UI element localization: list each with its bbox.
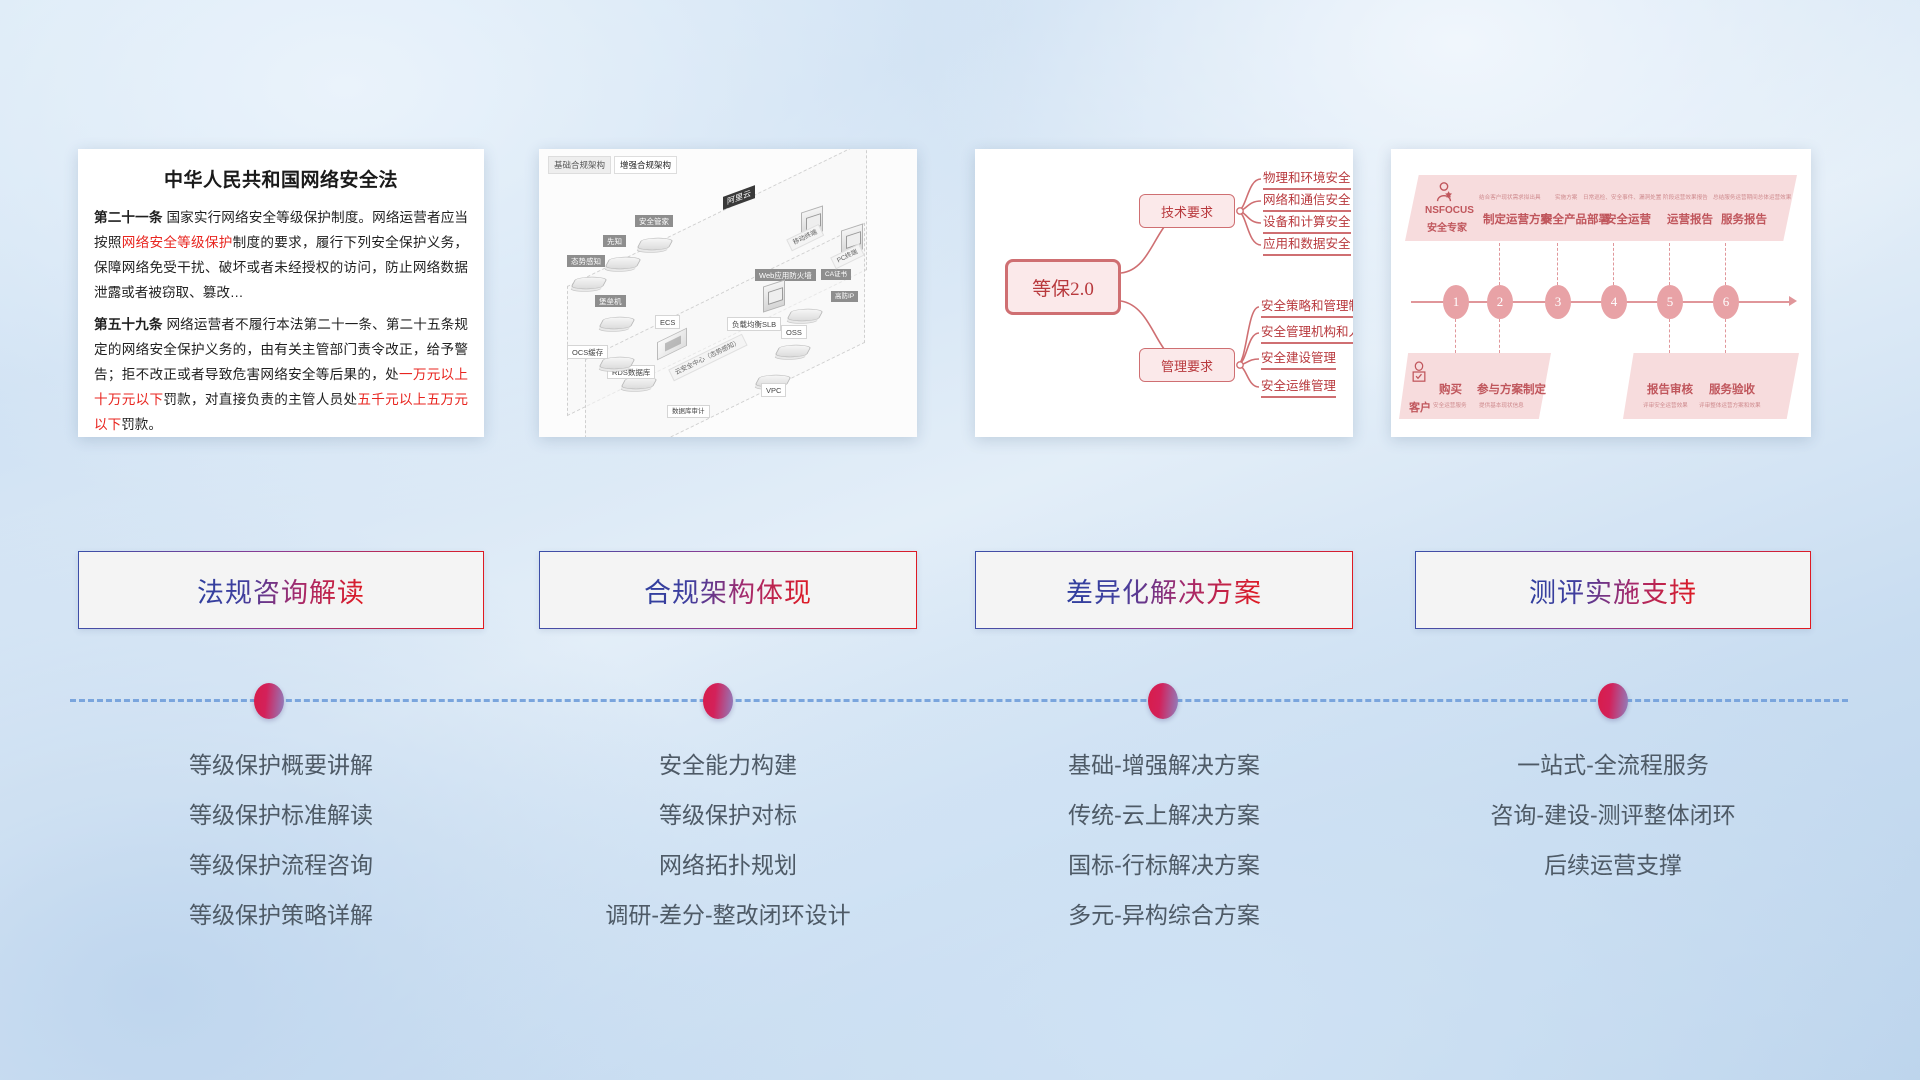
- node-tag-security-steward: 安全管家: [635, 215, 673, 227]
- expert-role-line2: 安全专家: [1427, 219, 1467, 234]
- bottom-step-2-label: 参与方案制定: [1477, 381, 1546, 397]
- timeline-node-6: 6: [1713, 285, 1739, 319]
- section-header-2[interactable]: 合规架构体现: [539, 551, 917, 629]
- top-step-6-sub: 总结服务运营期间总体运营效果: [1713, 193, 1791, 201]
- node-tag-ocs: OCS缓存: [567, 345, 608, 359]
- mindmap-core-node: 等保2.0: [1005, 259, 1121, 315]
- node-tag-anti-ddos-ip: 高防IP: [831, 291, 858, 302]
- rail-dot-1: [254, 683, 284, 719]
- section-header-3-label: 差异化解决方案: [1066, 571, 1262, 610]
- mindmap-leaf-construction-mgmt: 安全建设管理: [1261, 347, 1336, 370]
- customer-role-label: 客户: [1409, 399, 1431, 415]
- top-step-5-sub: 阶段运营效果报告: [1663, 193, 1708, 201]
- timeline-dash-6-top: [1725, 243, 1726, 285]
- node-tag-db-audit: 数据库审计: [667, 405, 710, 418]
- node-tag-vpc: VPC: [761, 383, 786, 397]
- timeline-dash-1-bottom: [1455, 319, 1456, 353]
- top-step-6-label: 服务报告: [1721, 211, 1767, 227]
- article-21-highlight: 网络安全等级保护: [122, 235, 233, 250]
- node-tag-ecs: ECS: [655, 315, 680, 329]
- mindmap-leaf-physical-env: 物理和环境安全: [1263, 167, 1351, 190]
- rail-dot-3: [1148, 683, 1178, 719]
- rail-dot-4: [1598, 683, 1628, 719]
- node-tag-oss: OSS: [781, 325, 807, 339]
- top-step-3-label: 安全产品部署: [1541, 211, 1610, 227]
- bottom-step-1-sub: 安全运营服务: [1433, 401, 1467, 409]
- mindmap-leaf-policy-system: 安全策略和管理制度: [1261, 295, 1353, 318]
- preview-cards-row: 中华人民共和国网络安全法 第二十一条 国家实行网络安全等级保护制度。网络运营者应…: [0, 149, 1920, 449]
- section-list-2: 安全能力构建 等级保护对标 网络拓扑规划 调研-差分-整改闭环设计: [539, 740, 917, 940]
- section-list-1: 等级保护概要讲解 等级保护标准解读 等级保护流程咨询 等级保护策略详解: [78, 740, 484, 940]
- timeline-node-3: 3: [1545, 285, 1571, 319]
- section-headers-row: 法规咨询解读 合规架构体现 差异化解决方案 测评实施支持: [0, 551, 1920, 631]
- law-article-59: 第五十九条 网络运营者不履行本法第二十一条、第二十五条规定的网络安全保护义务的，…: [94, 312, 468, 437]
- section-header-3[interactable]: 差异化解决方案: [975, 551, 1353, 629]
- timeline-axis-arrow: [1789, 296, 1797, 306]
- timeline-dash-5-bottom: [1669, 319, 1670, 353]
- timeline-dash-4-top: [1613, 243, 1614, 285]
- law-title: 中华人民共和国网络安全法: [78, 165, 484, 192]
- card-service-timeline[interactable]: NSFOCUS 安全专家 结合客户现状需求拟出具 制定运营方案 实施方案 安全产…: [1391, 149, 1811, 437]
- mindmap-leaf-ops-mgmt: 安全运维管理: [1261, 375, 1336, 398]
- law-article-21: 第二十一条 国家实行网络安全等级保护制度。网络运营者应当按照网络安全等级保护制度…: [94, 205, 468, 305]
- list-item: 等级保护标准解读: [78, 790, 484, 840]
- bottom-step-1-label: 购买: [1439, 381, 1462, 397]
- node-oss: [777, 341, 809, 361]
- node-security-steward: [639, 234, 671, 254]
- timeline-node-5: 5: [1657, 285, 1683, 319]
- timeline-node-1: 1: [1443, 285, 1469, 319]
- bottom-step-6-sub: 评审整体运营方案和效果: [1699, 401, 1761, 409]
- node-tag-bastion-host: 堡垒机: [595, 295, 626, 307]
- section-header-1-label: 法规咨询解读: [197, 571, 365, 610]
- list-item: 基础-增强解决方案: [975, 740, 1353, 790]
- list-item: 咨询-建设-测评整体闭环: [1415, 790, 1811, 840]
- mindmap-leaf-network-comm: 网络和通信安全: [1263, 189, 1351, 212]
- section-header-4[interactable]: 测评实施支持: [1415, 551, 1811, 629]
- bottom-step-6-label: 服务验收: [1709, 381, 1755, 397]
- list-item: 等级保护对标: [539, 790, 917, 840]
- list-item: 调研-差分-整改闭环设计: [539, 890, 917, 940]
- tab-basic-architecture[interactable]: 基础合规架构: [548, 156, 611, 174]
- node-xianzhi: [607, 253, 639, 273]
- timeline-node-2: 2: [1487, 285, 1513, 319]
- list-item: 网络拓扑规划: [539, 840, 917, 890]
- list-item: 等级保护概要讲解: [78, 740, 484, 790]
- section-header-1[interactable]: 法规咨询解读: [78, 551, 484, 629]
- architecture-diagram: 基础合规架构 增强合规架构 阿里云 安全管家 先知: [539, 149, 917, 437]
- node-bastion-host: [601, 313, 633, 333]
- expert-person-icon: [1433, 181, 1455, 203]
- card-cybersecurity-law[interactable]: 中华人民共和国网络安全法 第二十一条 国家实行网络安全等级保护制度。网络运营者应…: [78, 149, 484, 437]
- list-item: 多元-异构综合方案: [975, 890, 1353, 940]
- mindmap-leaf-device-compute: 设备和计算安全: [1263, 211, 1351, 234]
- section-header-2-label: 合规架构体现: [644, 571, 812, 610]
- node-tag-ca-cert: CA证书: [821, 269, 851, 280]
- node-tag-slb: 负载均衡SLB: [727, 317, 781, 331]
- mindmap: 等保2.0 技术要求 管理要求 物理和环境安全 网络和通信安全 设备和计算安全 …: [975, 149, 1353, 437]
- timeline-node-4: 4: [1601, 285, 1627, 319]
- bottom-step-5-sub: 评审安全运营效果: [1643, 401, 1688, 409]
- law-body: 第二十一条 国家实行网络安全等级保护制度。网络运营者应当按照网络安全等级保护制度…: [78, 192, 484, 437]
- rail-dot-2: [703, 683, 733, 719]
- article-59-label: 第五十九条: [94, 317, 163, 332]
- expert-role-line1: NSFOCUS: [1425, 205, 1474, 216]
- top-step-4-label: 安全运营: [1605, 211, 1651, 227]
- article-59-text-c: 罚款。: [121, 417, 162, 432]
- node-tag-situational-awareness: 态势感知: [567, 255, 605, 267]
- node-tag-xianzhi: 先知: [603, 235, 626, 247]
- list-item: 等级保护流程咨询: [78, 840, 484, 890]
- top-step-4-sub: 日常巡检、安全事件、漏洞处置: [1583, 193, 1661, 201]
- node-ecs: [657, 333, 687, 355]
- mindmap-leaf-org-personnel: 安全管理机构和人员: [1261, 321, 1353, 344]
- list-item: 等级保护策略详解: [78, 890, 484, 940]
- article-59-text-b: 罚款，对直接负责的主管人员处: [163, 392, 357, 407]
- customer-person-icon: [1409, 361, 1429, 383]
- architecture-canvas: 阿里云 安全管家 先知 态势感知 堡垒机: [545, 173, 911, 431]
- section-header-4-label: 测评实施支持: [1529, 571, 1697, 610]
- timeline-dash-6-bottom: [1725, 319, 1726, 353]
- timeline-dash-2-bottom: [1499, 319, 1500, 353]
- architecture-tabs[interactable]: 基础合规架构 增强合规架构: [548, 156, 677, 174]
- top-step-3-sub: 实施方案: [1555, 193, 1577, 201]
- card-compliance-architecture[interactable]: 基础合规架构 增强合规架构 阿里云 安全管家 先知: [539, 149, 917, 437]
- node-situational-awareness: [573, 273, 605, 293]
- timeline-dash-5-top: [1669, 243, 1670, 285]
- timeline-rail: [70, 699, 1848, 702]
- list-item: 一站式-全流程服务: [1415, 740, 1811, 790]
- bottom-step-2-sub: 提供基本现状信息: [1479, 401, 1524, 409]
- mindmap-leaf-app-data: 应用和数据安全: [1263, 233, 1351, 256]
- mindmap-branch-management: 管理要求: [1139, 348, 1235, 382]
- article-21-label: 第二十一条: [94, 210, 163, 225]
- list-item: 传统-云上解决方案: [975, 790, 1353, 840]
- timeline-dash-2-top: [1499, 243, 1500, 285]
- tab-enhanced-architecture[interactable]: 增强合规架构: [614, 156, 677, 174]
- card-mindmap-dengbao[interactable]: 等保2.0 技术要求 管理要求 物理和环境安全 网络和通信安全 设备和计算安全 …: [975, 149, 1353, 437]
- node-tag-waf: Web应用防火墙: [755, 269, 816, 281]
- section-list-3: 基础-增强解决方案 传统-云上解决方案 国标-行标解决方案 多元-异构综合方案: [975, 740, 1353, 940]
- bottom-step-5-label: 报告审核: [1647, 381, 1693, 397]
- section-list-4: 一站式-全流程服务 咨询-建设-测评整体闭环 后续运营支撑: [1415, 740, 1811, 890]
- timeline-dash-3-top: [1557, 243, 1558, 285]
- timeline-infographic: NSFOCUS 安全专家 结合客户现状需求拟出具 制定运营方案 实施方案 安全产…: [1391, 149, 1811, 437]
- node-waf: [763, 283, 785, 309]
- node-slb: [789, 305, 821, 325]
- list-item: 安全能力构建: [539, 740, 917, 790]
- top-step-5-label: 运营报告: [1667, 211, 1713, 227]
- list-item: 国标-行标解决方案: [975, 840, 1353, 890]
- mindmap-branch-technical: 技术要求: [1139, 194, 1235, 228]
- top-step-2-sub: 结合客户现状需求拟出具: [1479, 193, 1541, 201]
- list-item: 后续运营支撑: [1415, 840, 1811, 890]
